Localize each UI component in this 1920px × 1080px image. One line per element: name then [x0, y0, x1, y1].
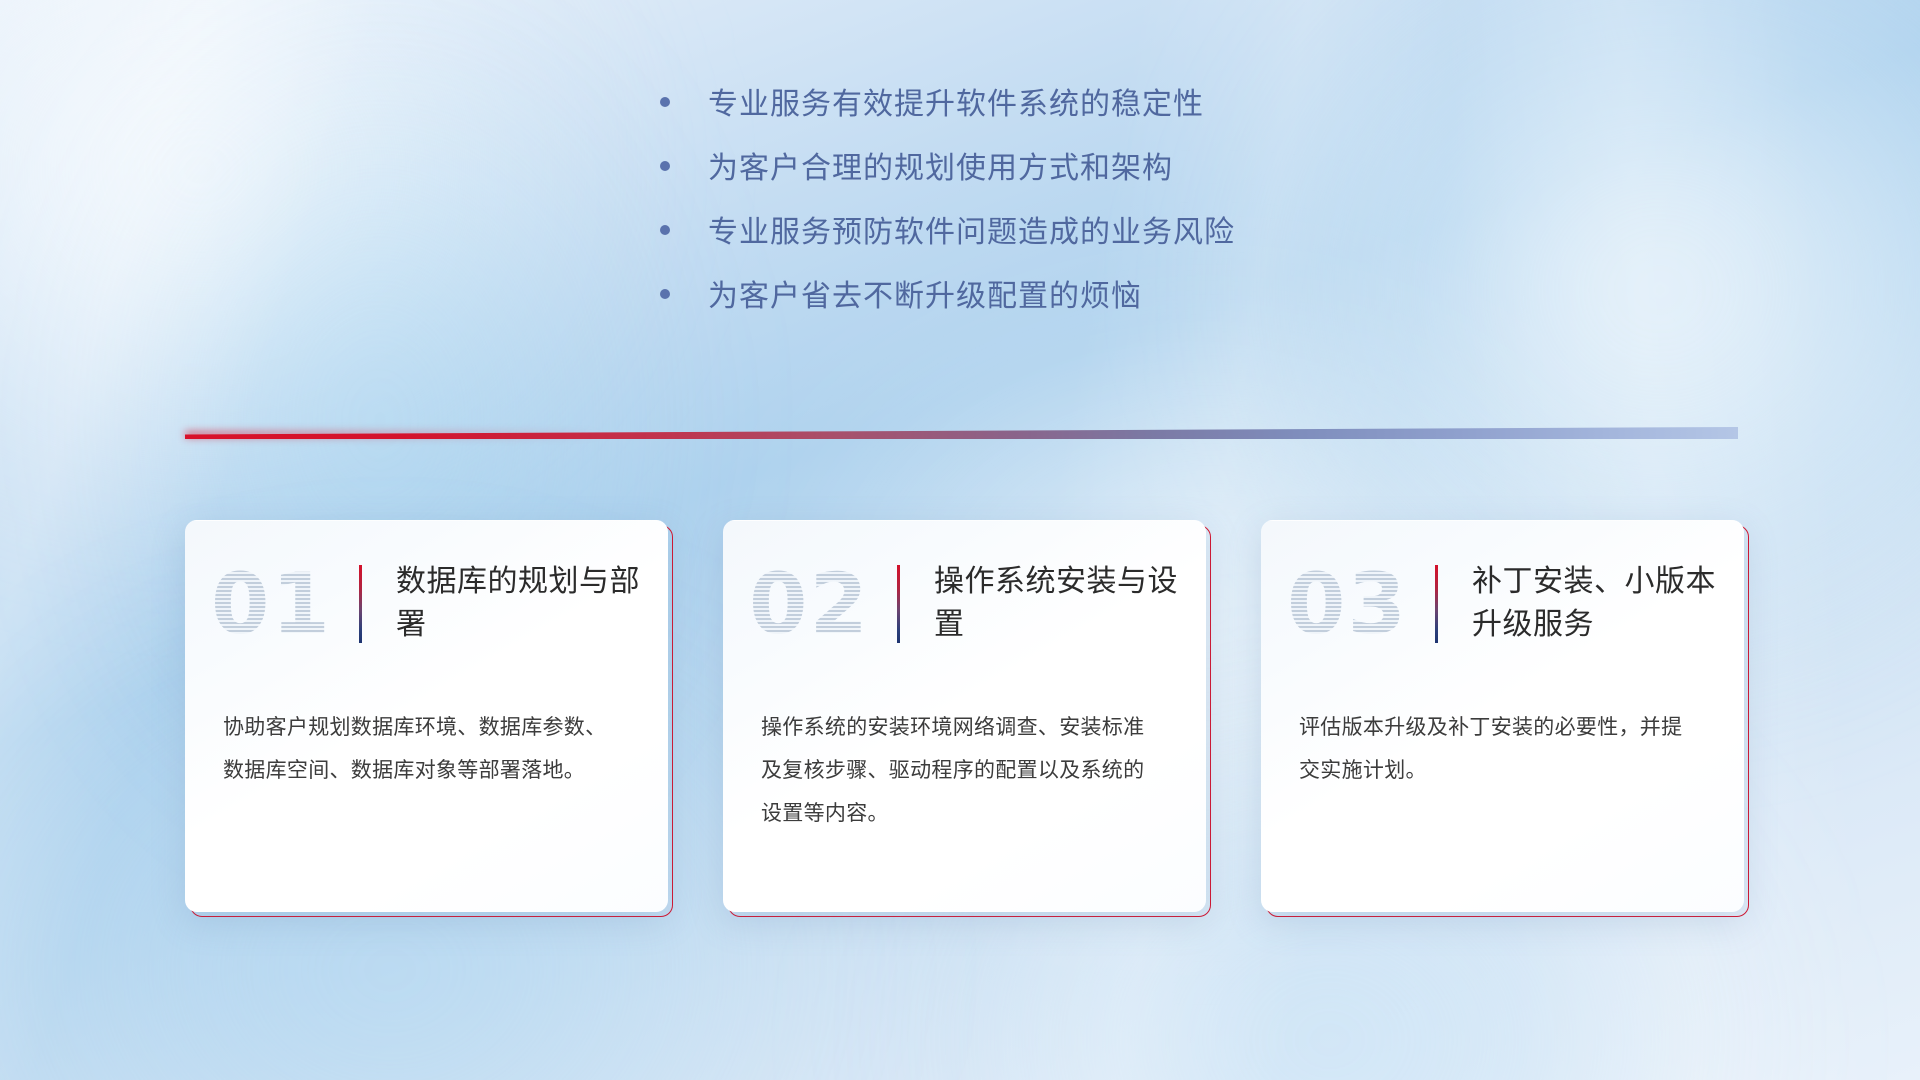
- background-glow-top-left: [0, 0, 580, 480]
- card-divider-rule: [897, 565, 900, 643]
- bullet-dot-icon: [660, 289, 670, 299]
- card-title: 操作系统安装与设置: [934, 561, 1206, 646]
- card-header: 01 数据库的规划与部署: [185, 520, 668, 688]
- list-item: 专业服务预防软件问题造成的业务风险: [660, 218, 1480, 282]
- service-card-list: 01 数据库的规划与部署 协助客户规划数据库环境、数据库参数、数据库空间、数据库…: [185, 520, 1745, 912]
- bullet-dot-icon: [660, 97, 670, 107]
- card-number: 02: [749, 562, 897, 646]
- list-item: 专业服务有效提升软件系统的稳定性: [660, 90, 1480, 154]
- service-card-02[interactable]: 02 操作系统安装与设置 操作系统的安装环境网络调查、安装标准及复核步骤、驱动程…: [723, 520, 1206, 912]
- card-panel: 01 数据库的规划与部署 协助客户规划数据库环境、数据库参数、数据库空间、数据库…: [185, 520, 668, 912]
- card-panel: 02 操作系统安装与设置 操作系统的安装环境网络调查、安装标准及复核步骤、驱动程…: [723, 520, 1206, 912]
- card-divider-rule: [1435, 565, 1438, 643]
- list-item: 为客户合理的规划使用方式和架构: [660, 154, 1480, 218]
- card-number: 03: [1287, 562, 1435, 646]
- list-item: 为客户省去不断升级配置的烦恼: [660, 282, 1480, 346]
- card-title: 数据库的规划与部署: [396, 561, 668, 646]
- service-card-01[interactable]: 01 数据库的规划与部署 协助客户规划数据库环境、数据库参数、数据库空间、数据库…: [185, 520, 668, 912]
- card-title: 补丁安装、小版本升级服务: [1472, 561, 1744, 646]
- card-body-text: 操作系统的安装环境网络调查、安装标准及复核步骤、驱动程序的配置以及系统的设置等内…: [723, 688, 1206, 835]
- slide-canvas: 专业服务有效提升软件系统的稳定性 为客户合理的规划使用方式和架构 专业服务预防软…: [0, 0, 1920, 1080]
- card-panel: 03 补丁安装、小版本升级服务 评估版本升级及补丁安装的必要性，并提交实施计划。: [1261, 520, 1744, 912]
- card-divider-rule: [359, 565, 362, 643]
- bullet-text: 专业服务预防软件问题造成的业务风险: [708, 218, 1235, 248]
- bullet-text: 为客户省去不断升级配置的烦恼: [708, 282, 1142, 312]
- card-number: 01: [211, 562, 359, 646]
- service-card-03[interactable]: 03 补丁安装、小版本升级服务 评估版本升级及补丁安装的必要性，并提交实施计划。: [1261, 520, 1744, 912]
- bullet-dot-icon: [660, 161, 670, 171]
- bullet-dot-icon: [660, 225, 670, 235]
- card-body-text: 协助客户规划数据库环境、数据库参数、数据库空间、数据库对象等部署落地。: [185, 688, 668, 792]
- bullet-text: 专业服务有效提升软件系统的稳定性: [708, 90, 1204, 120]
- benefits-bullet-list: 专业服务有效提升软件系统的稳定性 为客户合理的规划使用方式和架构 专业服务预防软…: [660, 90, 1480, 346]
- bullet-text: 为客户合理的规划使用方式和架构: [708, 154, 1173, 184]
- card-body-text: 评估版本升级及补丁安装的必要性，并提交实施计划。: [1261, 688, 1744, 792]
- card-header: 02 操作系统安装与设置: [723, 520, 1206, 688]
- section-divider: [185, 427, 1738, 439]
- card-header: 03 补丁安装、小版本升级服务: [1261, 520, 1744, 688]
